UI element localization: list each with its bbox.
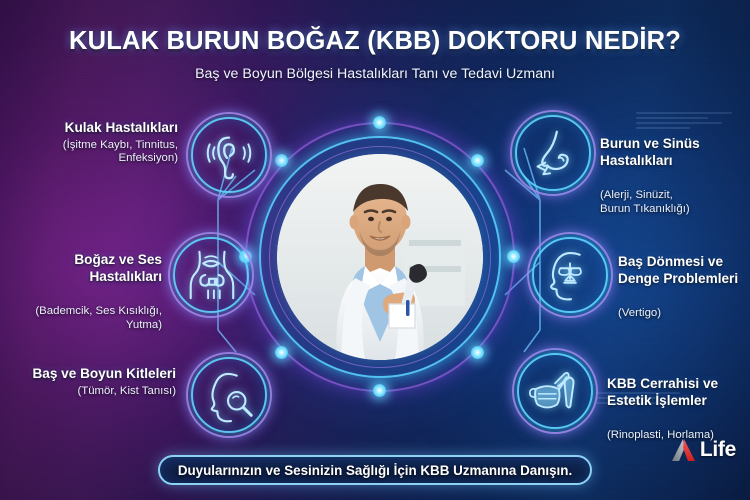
logo-text: Life <box>700 438 736 462</box>
spoke-nose[interactable] <box>510 110 596 196</box>
page-title: KULAK BURUN BOĞAZ (KBB) DOKTORU NEDİR? <box>0 27 750 56</box>
center-hub <box>245 122 515 392</box>
label-subtitle: (Bademcik, Ses Kısıklığı, Yutma) <box>6 305 162 333</box>
label-subtitle: (Tümör, Kist Tanısı) <box>6 385 176 399</box>
label-vertigo: Baş Dönmesi ve Denge Problemleri (Vertig… <box>618 236 750 339</box>
label-nose: Burun ve Sinüs Hastalıkları (Alerji, Sin… <box>600 118 750 235</box>
spoke-head-mass[interactable] <box>186 352 272 438</box>
hub-node <box>275 346 288 359</box>
label-title: Baş Dönmesi ve Denge Problemleri <box>618 254 750 287</box>
head-balance-icon <box>540 245 600 305</box>
a-triangle-mark <box>670 437 698 463</box>
spoke-throat[interactable] <box>168 232 254 318</box>
hub-node <box>275 154 288 167</box>
label-title: Boğaz ve Ses Hastalıkları <box>6 252 162 285</box>
page-subtitle: Baş ve Boyun Bölgesi Hastalıkları Tanı v… <box>0 66 750 82</box>
nose-icon <box>523 123 583 183</box>
label-subtitle: (Vertigo) <box>618 307 750 321</box>
label-title: Baş ve Boyun Kitleleri <box>6 366 176 383</box>
doctor-photo <box>277 154 483 360</box>
label-throat: Boğaz ve Ses Hastalıkları (Bademcik, Ses… <box>6 234 162 351</box>
ear-icon <box>199 125 259 185</box>
spoke-vertigo[interactable] <box>527 232 613 318</box>
throat-larynx-icon <box>181 245 241 305</box>
mask-scalpel-icon <box>525 361 585 421</box>
hub-node <box>471 154 484 167</box>
cta-banner[interactable]: Duyularınızın ve Sesinizin Sağlığı İçin … <box>158 455 592 485</box>
hub-node <box>373 384 386 397</box>
spoke-ear[interactable] <box>186 112 272 198</box>
hub-node <box>373 116 386 129</box>
label-title: Kulak Hastalıkları <box>10 120 178 137</box>
label-ear: Kulak Hastalıkları (İşitme Kaybı, Tinnit… <box>10 120 178 166</box>
label-title: KBB Cerrahisi ve Estetik İşlemler <box>607 376 750 409</box>
head-magnifier-icon <box>199 365 259 425</box>
hub-node <box>507 250 520 263</box>
spoke-surgery[interactable] <box>512 348 598 434</box>
label-subtitle: (İşitme Kaybı, Tinnitus, Enfeksiyon) <box>10 139 178 167</box>
label-subtitle: (Alerji, Sinüzit, Burun Tıkanıklığı) <box>600 189 750 217</box>
label-head-mass: Baş ve Boyun Kitleleri (Tümör, Kist Tanı… <box>6 366 176 398</box>
hub-node <box>471 346 484 359</box>
brand-logo[interactable]: Life <box>670 437 736 463</box>
infographic-canvas: KULAK BURUN BOĞAZ (KBB) DOKTORU NEDİR? B… <box>0 0 750 500</box>
cta-banner-text: Duyularınızın ve Sesinizin Sağlığı İçin … <box>178 463 572 478</box>
header: KULAK BURUN BOĞAZ (KBB) DOKTORU NEDİR? B… <box>0 0 750 82</box>
label-title: Burun ve Sinüs Hastalıkları <box>600 136 750 169</box>
